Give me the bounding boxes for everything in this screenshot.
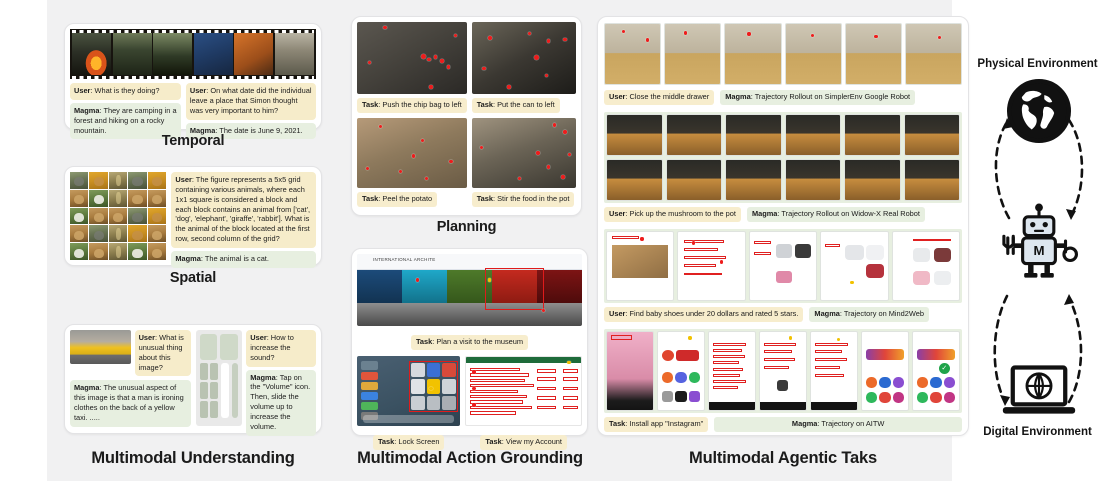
account-form-screenshot — [465, 356, 582, 426]
figure-stage: User: What is they doing? Magma: They ar… — [0, 0, 1105, 481]
magma-text: : Trajectory Rollout on Widow-X Real Rob… — [777, 209, 920, 218]
grid-cell — [89, 243, 107, 260]
user-text: : What is they doing? — [90, 86, 159, 95]
agentic-magma-label: Magma: Trajectory on AITW — [714, 417, 962, 432]
role-label-magma: Magma — [752, 209, 777, 218]
agentic-row-aitw: ✓ Task: Install app "Instagram" Magma: T… — [604, 329, 962, 432]
grid-cell — [148, 190, 166, 207]
caption-temporal: Temporal — [64, 133, 322, 149]
action-grounding-task-label: Task: View my Account — [480, 435, 567, 450]
caption-action-grounding: Multimodal Action Grounding — [334, 449, 606, 468]
digital-environment-label: Digital Environment — [975, 426, 1100, 438]
action-grounding-task-label: Task: Plan a visit to the museum — [411, 335, 528, 350]
web-frame — [820, 231, 888, 301]
task-role: Task — [362, 100, 378, 109]
film-frame — [194, 33, 233, 75]
role-label-user: User — [250, 333, 266, 342]
phone-frame — [810, 331, 858, 411]
robot-frame — [785, 114, 842, 156]
planning-task-label: Task: Peel the potato — [357, 192, 437, 207]
web-frame — [606, 231, 674, 301]
user-text: : The figure represents a 5x5 grid conta… — [175, 175, 310, 243]
grid-cell — [128, 225, 146, 242]
grid-cell — [109, 208, 127, 225]
planning-thumbnail — [472, 118, 576, 188]
grid-cell — [128, 243, 146, 260]
robot-icon: M — [996, 202, 1082, 280]
role-label-magma: Magma — [814, 309, 839, 318]
task-text: : Lock Screen — [394, 437, 439, 446]
agentic-row-simplerenv: User: Close the middle drawer Magma: Tra… — [604, 23, 962, 105]
film-frame — [72, 33, 111, 75]
caption-planning: Planning — [351, 219, 582, 235]
planning-item: Task: Stir the food in the pot — [472, 118, 576, 207]
role-label-magma: Magma — [175, 254, 200, 263]
role-label-magma: Magma — [250, 373, 275, 382]
robot-frame — [666, 159, 723, 201]
role-label-magma: Magma — [74, 383, 99, 392]
task-text: : Install app "Instagram" — [625, 419, 703, 428]
planning-thumbnail — [472, 22, 576, 94]
filmstrip — [70, 29, 316, 79]
grid-cell — [70, 225, 88, 242]
grid-cell — [70, 190, 88, 207]
caption-agentic-tasks: Multimodal Agentic Taks — [630, 449, 936, 468]
robot-frame — [904, 114, 961, 156]
robot-frame — [845, 23, 902, 85]
agentic-task-label: Task: Install app "Instagram" — [604, 417, 708, 432]
animal-grid — [70, 172, 166, 260]
task-text: : Push the chip bag to left — [378, 100, 461, 109]
role-label-user: User — [609, 209, 625, 218]
grid-cell — [148, 225, 166, 242]
magma-text: : Trajectory on Mind2Web — [840, 309, 924, 318]
website-tiles — [357, 270, 582, 303]
grid-cell — [109, 190, 127, 207]
robot-frame — [724, 23, 781, 85]
grid-cell — [89, 172, 107, 189]
task-role: Task — [416, 337, 432, 346]
task-role: Task — [378, 437, 394, 446]
robot-frame — [606, 114, 663, 156]
task-text: : Put the can to left — [493, 100, 555, 109]
mm-understanding-card: User: What is unusual thing about this i… — [64, 324, 322, 434]
grid-cell — [148, 172, 166, 189]
mmu-left-magma-bubble: Magma: The unusual aspect of this image … — [70, 380, 191, 426]
robot-frame — [905, 23, 962, 85]
caption-mm-understanding: Multimodal Understanding — [40, 449, 346, 468]
agentic-magma-label: Magma: Trajectory Rollout on Widow-X Rea… — [747, 207, 925, 222]
role-label-user: User — [609, 92, 625, 101]
task-role: Task — [485, 437, 501, 446]
film-frame — [153, 33, 192, 75]
role-label-magma: Magma — [792, 419, 817, 428]
planning-task-label: Task: Put the can to left — [472, 98, 560, 113]
spatial-card: User: The figure represents a 5x5 grid c… — [64, 166, 322, 266]
physical-environment-label: Physical Environment — [975, 58, 1100, 70]
website-title: INTERNATIONAL ARCHITE — [357, 254, 582, 262]
agentic-user-label: User: Pick up the mushroom to the pot — [604, 207, 741, 222]
film-frame — [113, 33, 152, 75]
grid-cell — [128, 172, 146, 189]
robot-frame — [725, 114, 782, 156]
grid-cell — [109, 243, 127, 260]
user-text: : Pick up the mushroom to the pot — [625, 209, 736, 218]
role-label-user: User — [609, 309, 625, 318]
film-frame — [234, 33, 273, 75]
robot-badge-letter: M — [1033, 243, 1044, 258]
task-role: Task — [609, 419, 625, 428]
environment-diagram: Physical Environment M — [975, 30, 1100, 450]
grid-cell — [70, 172, 88, 189]
temporal-card: User: What is they doing? Magma: They ar… — [64, 23, 322, 130]
laptop-globe-icon — [1000, 364, 1078, 422]
grid-cell — [148, 243, 166, 260]
desktop-screenshot — [357, 356, 460, 426]
role-label-user: User — [175, 175, 191, 184]
magma-text: : Trajectory Rollout on SimplerEnv Googl… — [751, 92, 910, 101]
robot-frame — [904, 159, 961, 201]
globe-icon — [1006, 78, 1072, 144]
user-text: : Find baby shoes under 20 dollars and r… — [625, 309, 798, 318]
task-text: : Peel the potato — [378, 194, 432, 203]
phone-frame — [861, 331, 909, 411]
grid-cell — [109, 225, 127, 242]
planning-thumbnail — [357, 22, 467, 94]
robot-frame — [844, 114, 901, 156]
planning-task-label: Task: Push the chip bag to left — [357, 98, 467, 113]
spatial-magma-bubble: Magma: The animal is a cat. — [171, 251, 316, 268]
planning-card: Task: Push the chip bag to left Task: Pu… — [351, 16, 582, 216]
robot-frame — [844, 159, 901, 201]
museum-website-screenshot: INTERNATIONAL ARCHITE — [357, 254, 582, 326]
agentic-row-mind2web: User: Find baby shoes under 20 dollars a… — [604, 229, 962, 322]
grid-cell — [89, 225, 107, 242]
robot-frame — [785, 159, 842, 201]
grid-cell — [89, 190, 107, 207]
agentic-row-widowx: User: Pick up the mushroom to the pot Ma… — [604, 112, 962, 222]
robot-frame — [604, 23, 661, 85]
agentic-user-label: User: Find baby shoes under 20 dollars a… — [604, 307, 803, 322]
role-label-magma: Magma — [74, 106, 99, 115]
robot-frame — [785, 23, 842, 85]
magma-text: : Trajectory on AITW — [817, 419, 884, 428]
planning-item: Task: Push the chip bag to left — [357, 22, 467, 113]
taxi-photo — [70, 330, 131, 364]
grid-cell — [89, 208, 107, 225]
planning-thumbnail — [357, 118, 467, 188]
web-frame — [677, 231, 745, 301]
mmu-right-magma-bubble: Magma: Tap on the "Volume" icon. Then, s… — [246, 370, 316, 436]
user-text: : Close the middle drawer — [625, 92, 709, 101]
task-text: : Stir the food in the pot — [493, 194, 569, 203]
role-label-user: User — [190, 86, 206, 95]
temporal-right-user-bubble: User: On what date did the individual le… — [186, 83, 316, 120]
robot-frame — [606, 159, 663, 201]
grid-cell — [70, 208, 88, 225]
robot-frame — [664, 23, 721, 85]
agentic-magma-label: Magma: Trajectory Rollout on SimplerEnv … — [720, 90, 915, 105]
grid-cell — [128, 208, 146, 225]
grid-cell — [128, 190, 146, 207]
grid-cell — [148, 208, 166, 225]
website-header: INTERNATIONAL ARCHITE — [357, 254, 582, 270]
role-label-magma: Magma — [725, 92, 750, 101]
robot-frame — [725, 159, 782, 201]
user-text: : On what date did the individual leave … — [190, 86, 312, 115]
task-role: Task — [477, 100, 493, 109]
role-label-user: User — [139, 333, 155, 342]
task-text: : View my Account — [502, 437, 562, 446]
mmu-left-user-bubble: User: What is unusual thing about this i… — [135, 330, 191, 376]
animal-grid-image — [70, 172, 166, 260]
action-grounding-task-label: Task: Lock Screen — [373, 435, 445, 450]
action-grounding-card: INTERNATIONAL ARCHITE Task: Plan a visit… — [351, 248, 588, 436]
role-label-user: User — [74, 86, 90, 95]
planning-item: Task: Peel the potato — [357, 118, 467, 207]
agentic-tasks-card: User: Close the middle drawer Magma: Tra… — [597, 16, 969, 436]
agentic-user-label: User: Close the middle drawer — [604, 90, 714, 105]
film-frame — [275, 33, 314, 75]
phone-frame — [657, 331, 705, 411]
grid-cell — [70, 243, 88, 260]
check-icon: ✓ — [939, 363, 950, 374]
planning-task-label: Task: Stir the food in the pot — [472, 192, 575, 207]
phone-frame — [606, 331, 654, 411]
website-footer — [357, 303, 582, 326]
phone-control-center-screenshot — [196, 330, 243, 426]
phone-frame: ✓ — [912, 331, 960, 411]
planning-item: Task: Put the can to left — [472, 22, 576, 113]
grid-cell — [109, 172, 127, 189]
mmu-right-user-bubble: User: How to increase the sound? — [246, 330, 316, 367]
magma-text: : The animal is a cat. — [201, 254, 269, 263]
temporal-left-user-bubble: User: What is they doing? — [70, 83, 181, 100]
robot-frame — [666, 114, 723, 156]
agentic-magma-label: Magma: Trajectory on Mind2Web — [809, 307, 929, 322]
task-role: Task — [362, 194, 378, 203]
phone-frame — [759, 331, 807, 411]
spatial-user-bubble: User: The figure represents a 5x5 grid c… — [171, 172, 316, 248]
phone-frame — [708, 331, 756, 411]
caption-spatial: Spatial — [64, 270, 322, 286]
web-frame — [749, 231, 817, 301]
task-text: : Plan a visit to the museum — [432, 337, 523, 346]
web-frame — [892, 231, 960, 301]
task-role: Task — [477, 194, 493, 203]
